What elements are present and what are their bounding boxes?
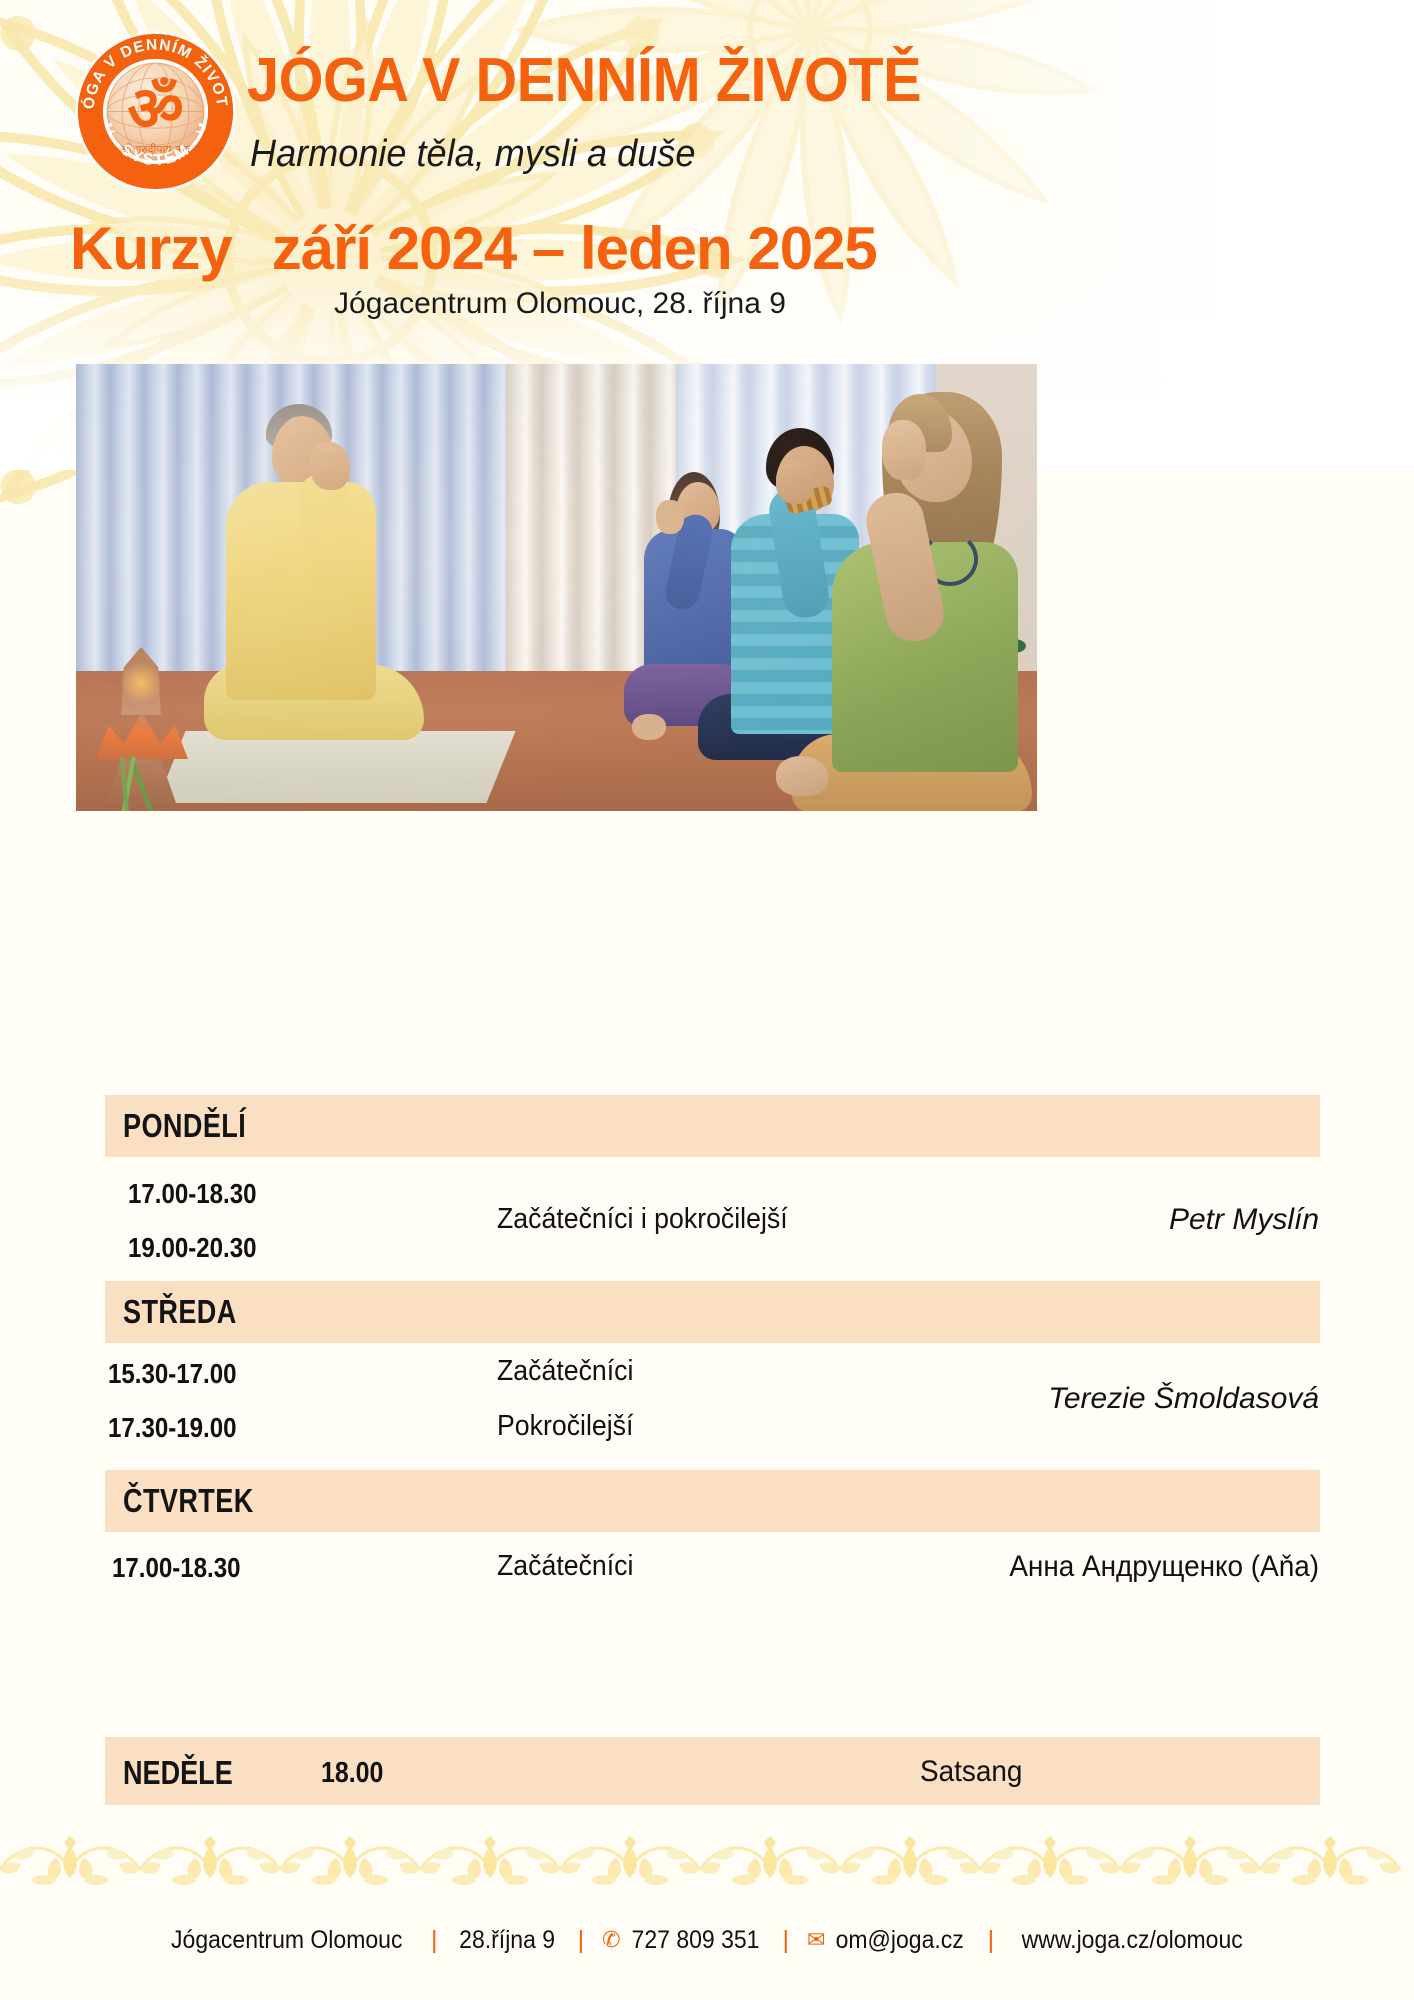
slot-level: Začátečníci: [497, 1355, 633, 1388]
day-header-wednesday: STŘEDA: [105, 1281, 1320, 1343]
day-label-monday: PONDĚLÍ: [123, 1107, 246, 1145]
slot-level: Začátečníci: [497, 1550, 633, 1583]
slot-level: Začátečníci i pokročilejší: [497, 1203, 788, 1236]
slot-time: 17.30-19.00: [108, 1412, 237, 1444]
courses-date-range: září 2024 – leden 2025: [272, 214, 877, 283]
venue-line: Jógacentrum Olomouc, 28. října 9: [0, 287, 1120, 321]
footer-email[interactable]: om@joga.cz: [836, 1926, 964, 1955]
courses-label: Kurzy: [70, 214, 232, 283]
footer-separator: |: [782, 1926, 789, 1954]
yoga-class-photo: [76, 364, 1037, 811]
sunday-time: 18.00: [321, 1757, 383, 1790]
page-subtitle: Harmonie těla, mysli a duše: [250, 133, 695, 176]
footer-address: 28.října 9: [460, 1926, 556, 1955]
day-label-sunday: NEDĚLE: [123, 1754, 233, 1792]
phone-icon: ✆: [602, 1927, 620, 1952]
footer-phone: 727 809 351: [631, 1926, 759, 1955]
photo-color-overlay: [76, 364, 1037, 811]
day-header-thursday: ČTVRTEK: [105, 1470, 1320, 1532]
slot-time: 15.30-17.00: [108, 1358, 237, 1390]
page-title: JÓGA V DENNÍM ŽIVOTĚ: [247, 48, 1177, 113]
footer-center-name: Jógacentrum Olomouc: [172, 1926, 403, 1955]
svg-text:ॐ: ॐ: [127, 73, 183, 145]
slot-teacher: Petr Myslín: [1169, 1203, 1319, 1237]
slot-teacher: Terezie Šmoldasová: [1048, 1382, 1319, 1416]
day-header-sunday: NEDĚLE 18.00 Satsang: [105, 1737, 1320, 1805]
footer-separator: |: [431, 1926, 438, 1954]
footer-separator: |: [578, 1926, 585, 1954]
footer-separator: |: [988, 1926, 995, 1954]
slot-teacher: Анна Андрущенко (Aňa): [1009, 1550, 1319, 1584]
slot-level: Pokročilejší: [497, 1410, 633, 1443]
day-label-wednesday: STŘEDA: [123, 1293, 237, 1331]
bottom-ornament-band: [0, 1830, 1414, 1894]
sunday-activity-label: Satsang: [920, 1755, 1022, 1789]
envelope-icon: ✉: [807, 1927, 825, 1952]
footer-contact-bar: Jógacentrum Olomouc | 28.října 9 | ✆727 …: [0, 1925, 1414, 1955]
slot-time: 17.00-18.30: [112, 1552, 241, 1584]
joga-v-dennim-zivote-logo: ॐ श्री गुरुदीपाय नमः JÓGA V DENNÍM ŽIVOT…: [72, 28, 239, 195]
poster-root: ॐ श्री गुरुदीपाय नमः JÓGA V DENNÍM ŽIVOT…: [0, 0, 1414, 2000]
slot-time: 17.00-18.30: [128, 1178, 257, 1210]
footer-website[interactable]: www.joga.cz/olomouc: [1022, 1926, 1243, 1955]
slot-time: 19.00-20.30: [128, 1232, 257, 1264]
day-header-monday: PONDĚLÍ: [105, 1095, 1320, 1157]
courses-heading: Kurzy září 2024 – leden 2025: [70, 214, 1080, 283]
day-label-thursday: ČTVRTEK: [123, 1482, 254, 1520]
